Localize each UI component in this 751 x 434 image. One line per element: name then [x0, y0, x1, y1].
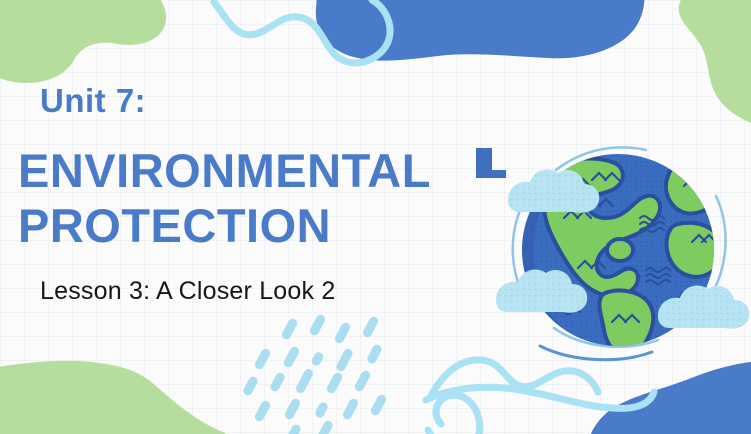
unit-label: Unit 7: — [40, 84, 146, 117]
text-layer: Unit 7: ENVIRONMENTAL PROTECTION Lesson … — [0, 0, 751, 434]
lesson-subtitle: Lesson 3: A Closer Look 2 — [40, 277, 335, 306]
slide-canvas: Unit 7: ENVIRONMENTAL PROTECTION Lesson … — [0, 0, 751, 434]
page-title: ENVIRONMENTAL PROTECTION — [18, 143, 538, 254]
